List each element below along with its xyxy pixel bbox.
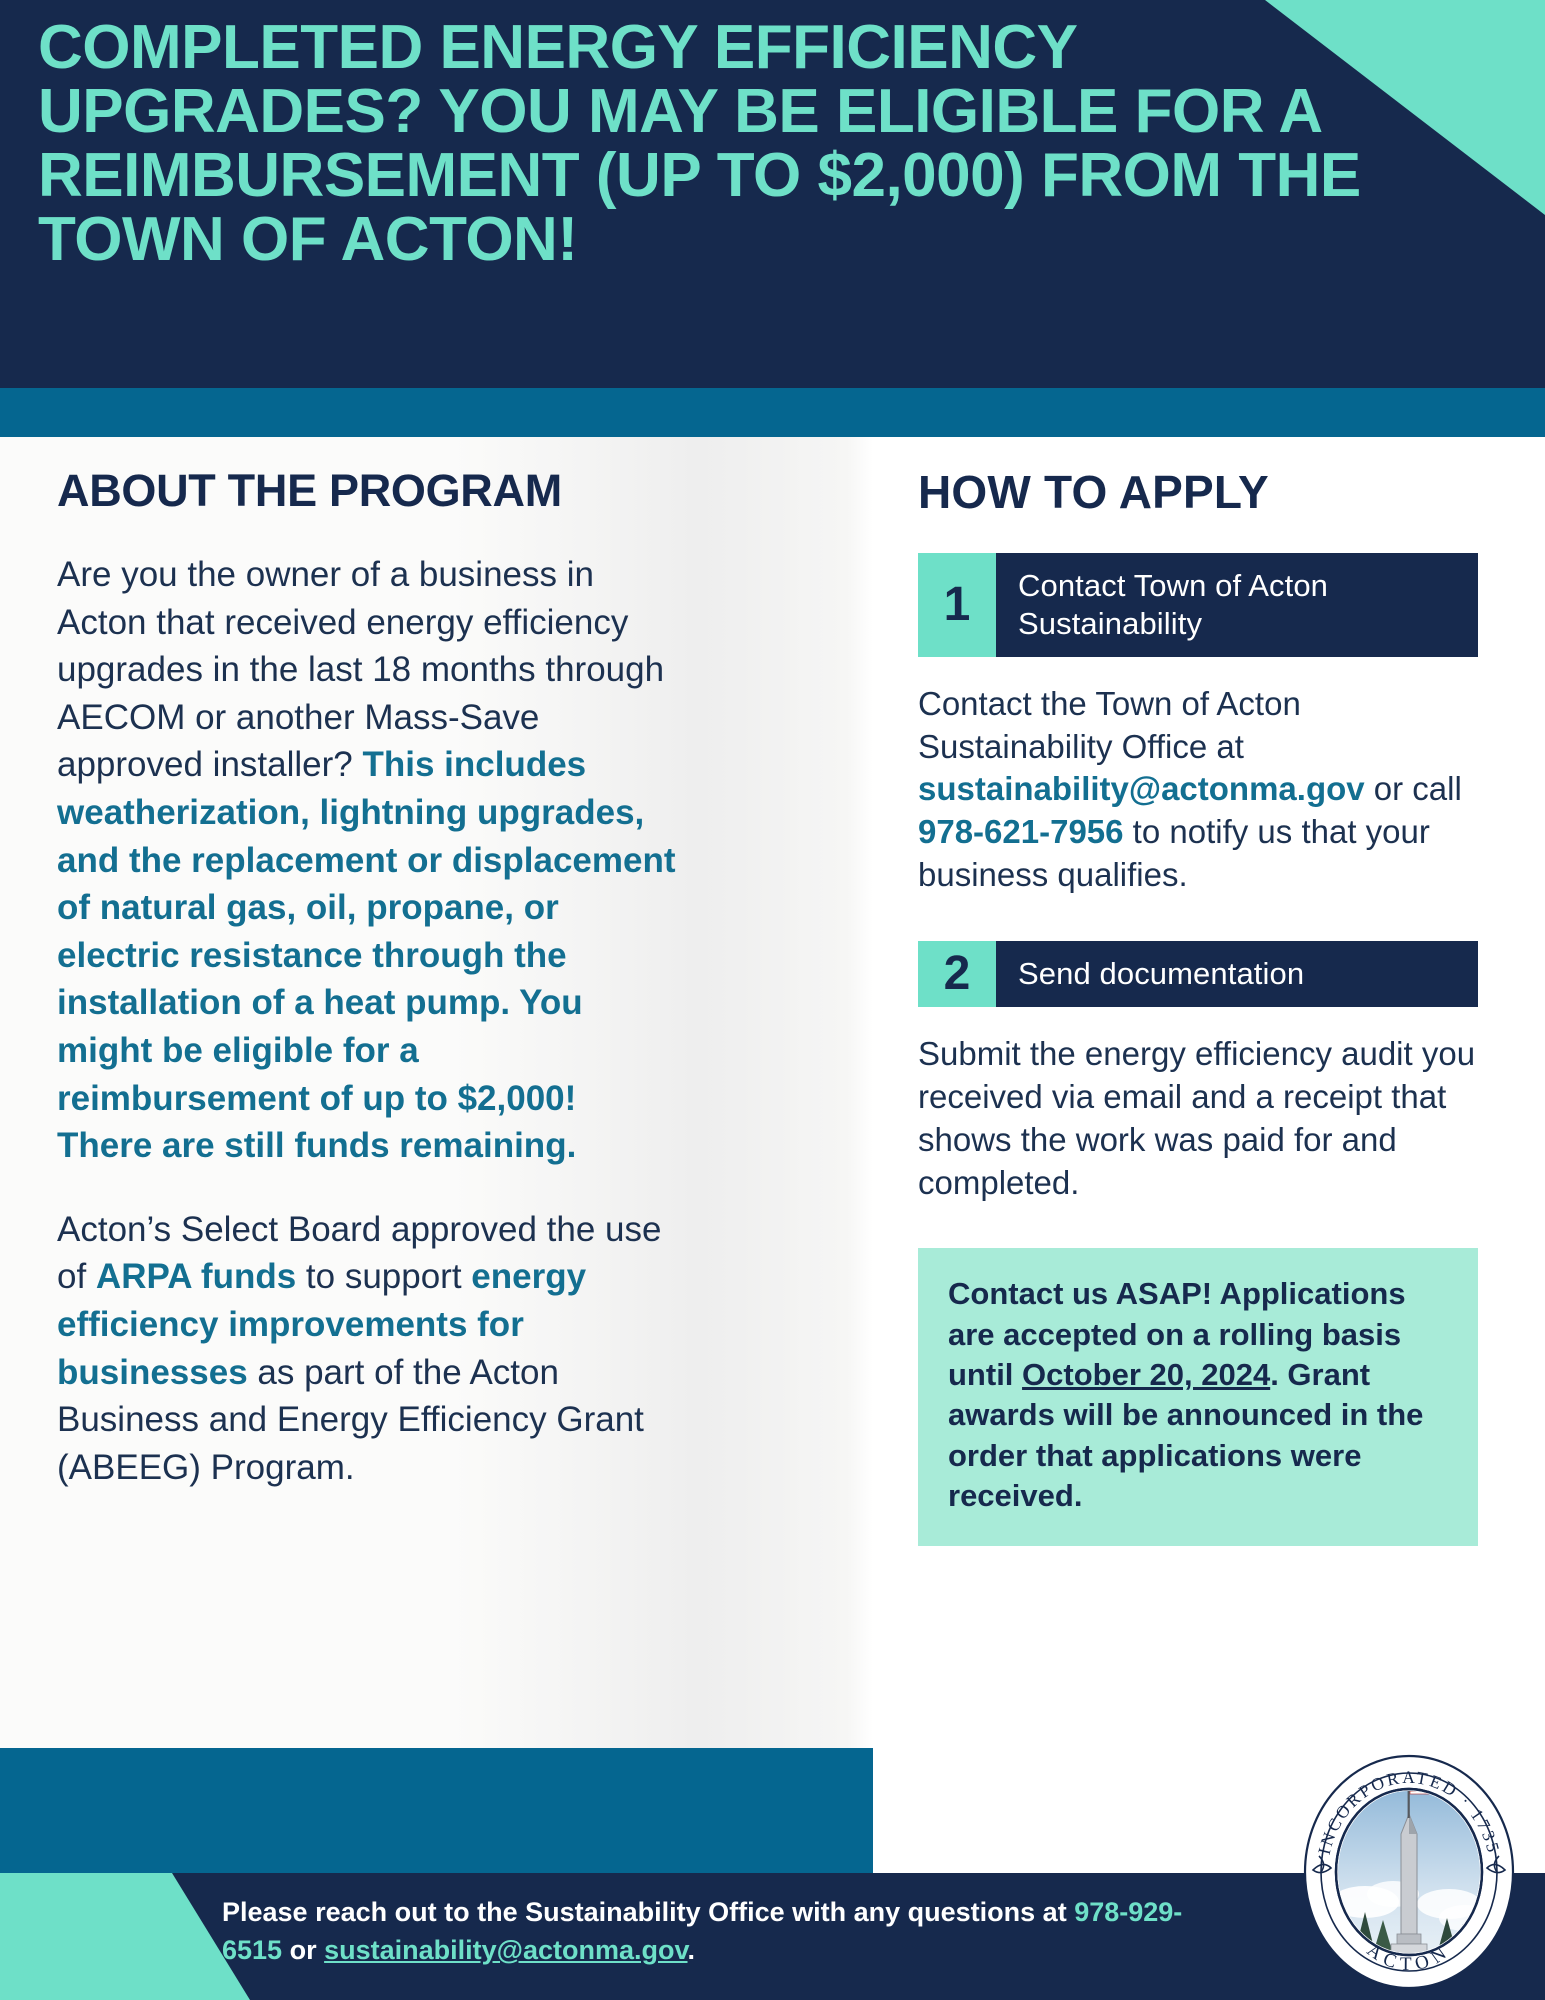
footer-contact-text: Please reach out to the Sustainability O… <box>222 1893 1242 1970</box>
about-p2-plain-b: to support <box>296 1257 471 1296</box>
footer-email-link[interactable]: sustainability@actonma.gov <box>324 1935 687 1965</box>
sustainability-email-link[interactable]: sustainability@actonma.gov <box>918 770 1365 807</box>
page-title: Completed energy efficiency upgrades? Yo… <box>38 16 1458 271</box>
header-divider-bar <box>0 388 1545 437</box>
deadline-callout-box: Contact us ASAP! Applications are accept… <box>918 1248 1478 1546</box>
step-1-number: 1 <box>918 553 996 657</box>
step-2-body: Submit the energy efficiency audit you r… <box>918 1033 1483 1205</box>
about-p2-highlight-arpa: ARPA funds <box>96 1257 296 1296</box>
about-p1-highlight: This includes weatherization, lightning … <box>57 745 676 1165</box>
footer-text-c: . <box>688 1935 696 1965</box>
step-1-body-a: Contact the Town of Acton Sustainability… <box>918 685 1301 765</box>
apply-step-2: 2 Send documentation <box>918 941 1478 1007</box>
step-2-body-a: Submit the energy efficiency audit you r… <box>918 1035 1475 1201</box>
apply-step-1: 1 Contact Town of Acton Sustainability <box>918 553 1478 657</box>
town-of-acton-seal: INCORPORATED · 1735 ACTON <box>1297 1752 1521 1992</box>
footer-text-a: Please reach out to the Sustainability O… <box>222 1897 1074 1927</box>
footer-diagonal-accent <box>0 1873 250 2000</box>
about-paragraph-1: Are you the owner of a business in Acton… <box>57 551 677 1170</box>
callout-deadline-date: October 20, 2024 <box>1022 1357 1270 1392</box>
apply-section-title: How to Apply <box>918 465 1483 519</box>
footer-blue-band <box>0 1748 873 1874</box>
how-to-apply-section: How to Apply 1 Contact Town of Acton Sus… <box>918 465 1483 1546</box>
about-the-program-section: About the Program Are you the owner of a… <box>57 465 677 1527</box>
about-paragraph-2: Acton’s Select Board approved the use of… <box>57 1206 677 1492</box>
about-section-title: About the Program <box>57 465 677 517</box>
sustainability-phone-link[interactable]: 978-621-7956 <box>918 813 1124 850</box>
step-2-label: Send documentation <box>996 941 1478 1007</box>
step-1-body-b: or call <box>1365 770 1462 807</box>
seal-icon: INCORPORATED · 1735 ACTON <box>1297 1752 1521 1992</box>
step-1-label: Contact Town of Acton Sustainability <box>996 553 1478 657</box>
step-2-number: 2 <box>918 941 996 1007</box>
footer-text-b: or <box>282 1935 324 1965</box>
flyer-page: Completed energy efficiency upgrades? Yo… <box>0 0 1545 2000</box>
header-banner: Completed energy efficiency upgrades? Yo… <box>0 0 1545 388</box>
step-1-body: Contact the Town of Acton Sustainability… <box>918 683 1483 897</box>
